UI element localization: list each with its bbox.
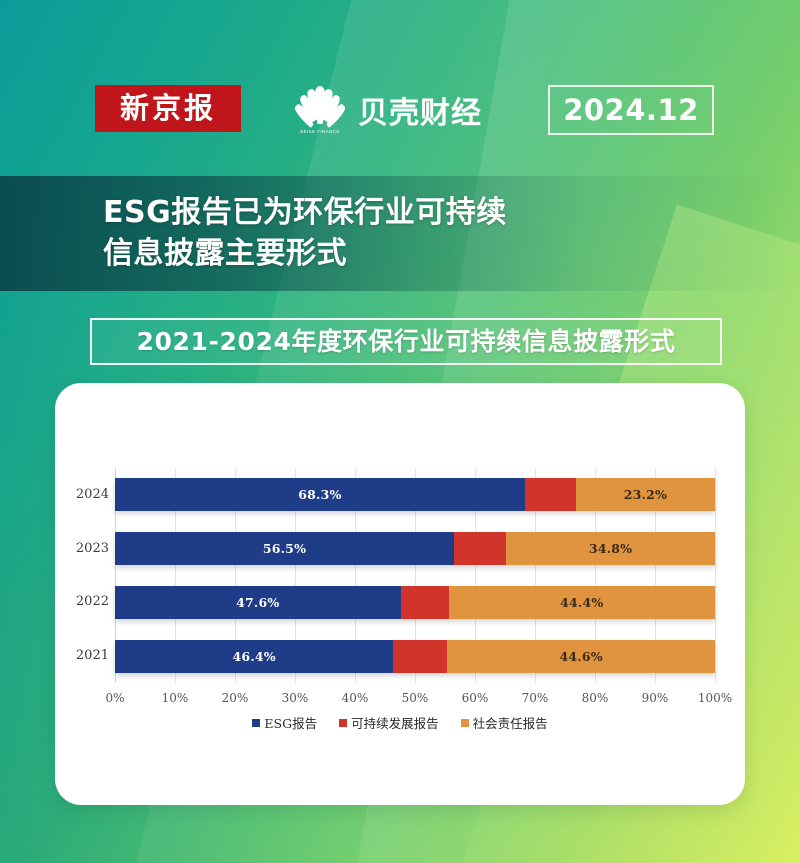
chart-bar-segment[interactable]: 56.5% [115, 532, 454, 565]
brand-name: 贝壳财经 [358, 88, 482, 132]
chart-x-tick-label: 40% [333, 691, 377, 705]
chart-subtitle-bar: 2021-2024年度环保行业可持续信息披露形式 [90, 318, 722, 365]
chart-bar-value-label: 47.6% [236, 595, 279, 610]
chart-bar-row[interactable]: 46.4%44.6% [115, 640, 715, 673]
chart-y-tick-label: 2023 [57, 541, 109, 556]
chart-bar-segment[interactable]: 34.8% [506, 532, 715, 565]
chart-x-tick-label: 10% [153, 691, 197, 705]
chart-bar-segment[interactable]: 46.4% [115, 640, 393, 673]
chart-bar-segment[interactable] [401, 586, 449, 619]
chart-x-tick-label: 30% [273, 691, 317, 705]
infographic-poster: 新京报 BEIKE FINANCE 贝壳财经 20 [0, 0, 800, 863]
chart-legend-swatch [461, 719, 469, 727]
chart-subtitle-text: 2021-2024年度环保行业可持续信息披露形式 [137, 329, 676, 354]
shell-logo-subtext: BEIKE FINANCE [288, 129, 352, 134]
stacked-bar-chart: 68.3%23.2%56.5%34.8%47.6%44.4%46.4%44.6%… [55, 383, 745, 805]
publisher-logo: 新京报 [95, 85, 241, 132]
chart-bar-value-label: 34.8% [589, 541, 632, 556]
chart-bar-segment[interactable] [393, 640, 447, 673]
chart-x-tick-label: 70% [513, 691, 557, 705]
chart-legend: ESG报告可持续发展报告社会责任报告 [55, 713, 745, 732]
chart-legend-label: 社会责任报告 [473, 713, 548, 732]
chart-y-tick-label: 2024 [57, 487, 109, 502]
page-title-line-2: 信息披露主要形式 [103, 233, 743, 274]
chart-x-tick-label: 20% [213, 691, 257, 705]
chart-legend-item[interactable]: 社会责任报告 [461, 713, 548, 732]
chart-bar-segment[interactable]: 44.4% [449, 586, 715, 619]
chart-legend-item[interactable]: ESG报告 [252, 713, 317, 732]
poster-header: 新京报 BEIKE FINANCE 贝壳财经 20 [0, 0, 800, 175]
chart-bar-segment[interactable]: 23.2% [576, 478, 715, 511]
chart-bar-value-label: 44.6% [560, 649, 603, 664]
chart-gridline [715, 468, 716, 683]
chart-bar-segment[interactable]: 44.6% [447, 640, 715, 673]
chart-bar-row[interactable]: 47.6%44.4% [115, 586, 715, 619]
chart-bar-value-label: 46.4% [233, 649, 276, 664]
chart-y-tick-label: 2022 [57, 594, 109, 609]
chart-legend-label: 可持续发展报告 [351, 713, 439, 732]
chart-x-tick-label: 0% [93, 691, 137, 705]
chart-legend-item[interactable]: 可持续发展报告 [339, 713, 439, 732]
chart-y-tick-label: 2021 [57, 648, 109, 663]
chart-bar-row[interactable]: 68.3%23.2% [115, 478, 715, 511]
chart-bar-value-label: 23.2% [624, 487, 667, 502]
page-title: ESG报告已为环保行业可持续 信息披露主要形式 [103, 192, 743, 275]
date-badge-text: 2024.12 [563, 96, 699, 125]
publisher-logo-text: 新京报 [120, 94, 216, 123]
chart-bar-value-label: 56.5% [263, 541, 306, 556]
chart-x-tick-label: 60% [453, 691, 497, 705]
chart-legend-swatch [252, 719, 260, 727]
page-title-line-1: ESG报告已为环保行业可持续 [103, 192, 743, 233]
chart-bar-segment[interactable] [525, 478, 576, 511]
chart-x-tick-label: 50% [393, 691, 437, 705]
chart-legend-label: ESG报告 [264, 713, 317, 732]
chart-bar-value-label: 44.4% [560, 595, 603, 610]
chart-bar-segment[interactable] [454, 532, 506, 565]
date-badge: 2024.12 [548, 85, 714, 135]
chart-bar-value-label: 68.3% [298, 487, 341, 502]
chart-plot-area: 68.3%23.2%56.5%34.8%47.6%44.4%46.4%44.6% [115, 468, 715, 683]
chart-legend-swatch [339, 719, 347, 727]
chart-bar-row[interactable]: 56.5%34.8% [115, 532, 715, 565]
chart-x-tick-label: 90% [633, 691, 677, 705]
chart-bar-segment[interactable]: 47.6% [115, 586, 401, 619]
chart-bar-segment[interactable]: 68.3% [115, 478, 525, 511]
chart-card: 68.3%23.2%56.5%34.8%47.6%44.4%46.4%44.6%… [55, 383, 745, 805]
chart-x-tick-label: 100% [693, 691, 737, 705]
chart-x-tick-label: 80% [573, 691, 617, 705]
